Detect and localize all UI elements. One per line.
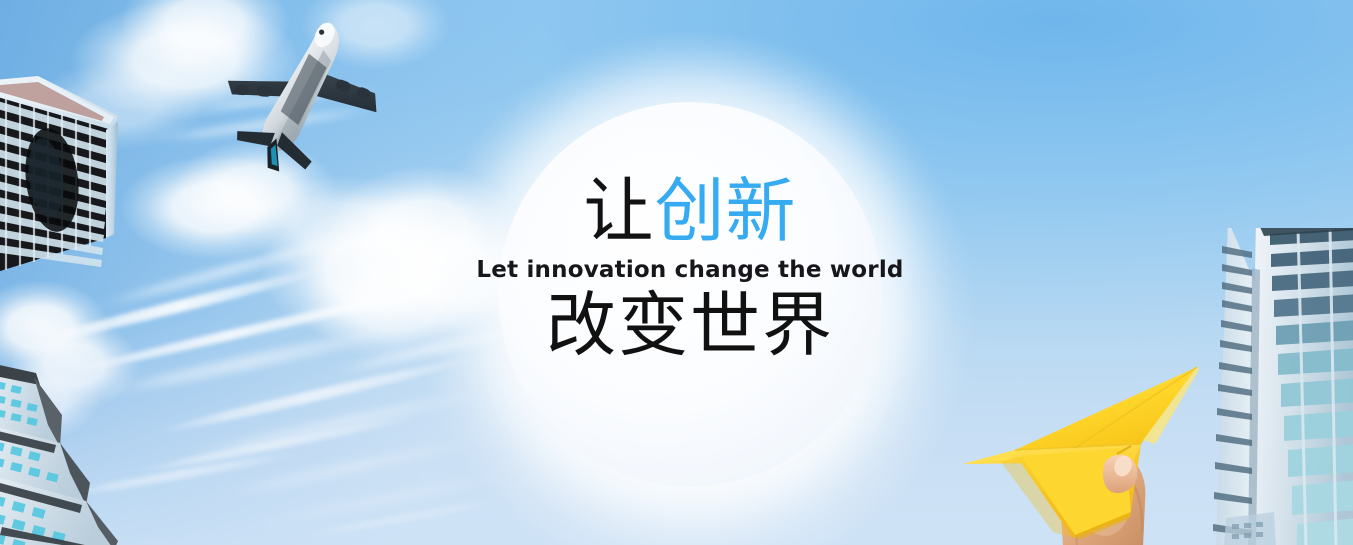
jet-airliner-icon xyxy=(215,4,385,179)
headline-line-1-black: 让 xyxy=(584,170,655,252)
headline-line-2: 改变世界 xyxy=(455,289,925,361)
hero-banner: 让创新 Let innovation change the world 改变世界 xyxy=(0,0,1353,545)
building-top-left xyxy=(0,38,129,273)
headline-block: 让创新 Let innovation change the world 改变世界 xyxy=(455,175,925,361)
building-bottom-left xyxy=(0,355,190,545)
headline-subhead-en: Let innovation change the world xyxy=(455,257,925,283)
paper-airplane-with-hand xyxy=(955,352,1235,545)
headline-line-1: 让创新 xyxy=(455,175,925,247)
headline-line-1-accent: 创新 xyxy=(655,170,797,252)
paper-airplane-icon xyxy=(963,367,1199,540)
